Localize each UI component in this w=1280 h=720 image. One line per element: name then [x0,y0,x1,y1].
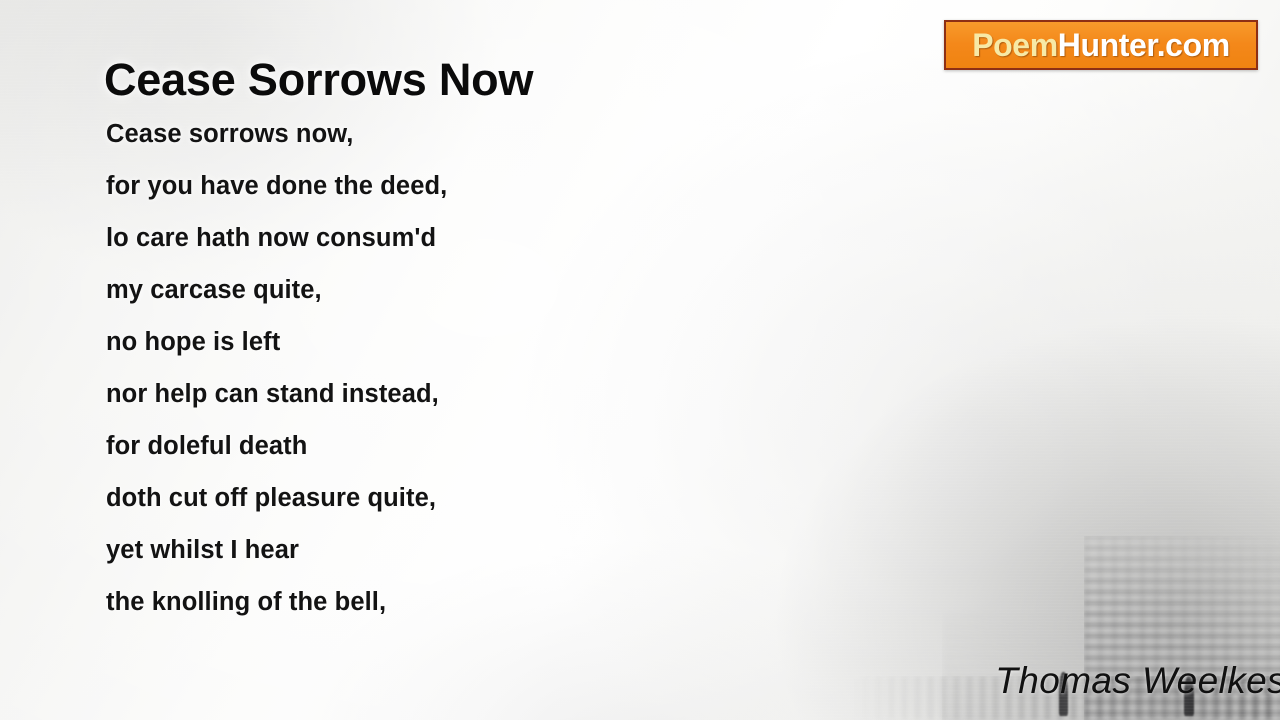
poemhunter-logo[interactable]: PoemHunter.com [944,20,1258,70]
poem-line: the knolling of the bell, [106,576,886,628]
poem-line: doth cut off pleasure quite, [106,472,886,524]
poem-body: Cease sorrows now, for you have done the… [106,108,886,628]
poem-line: yet whilst I hear [106,524,886,576]
poem-card: Cease Sorrows Now Cease sorrows now, for… [0,0,1280,720]
poem-line: no hope is left [106,316,886,368]
poem-line: for doleful death [106,420,886,472]
brand-name-suffix: Hunter.com [1058,27,1230,63]
poemhunter-wordmark: PoemHunter.com [972,29,1230,61]
poem-line: nor help can stand instead, [106,368,886,420]
brand-name-prefix: Poem [972,27,1058,63]
poem-line: Cease sorrows now, [106,108,886,160]
poem-line: my carcase quite, [106,264,886,316]
poem-line: for you have done the deed, [106,160,886,212]
poem-content: Cease Sorrows Now Cease sorrows now, for… [0,0,1280,720]
poem-line: lo care hath now consum'd [106,212,886,264]
poem-title: Cease Sorrows Now [104,56,533,103]
poem-author: Thomas Weelkes [995,660,1280,702]
